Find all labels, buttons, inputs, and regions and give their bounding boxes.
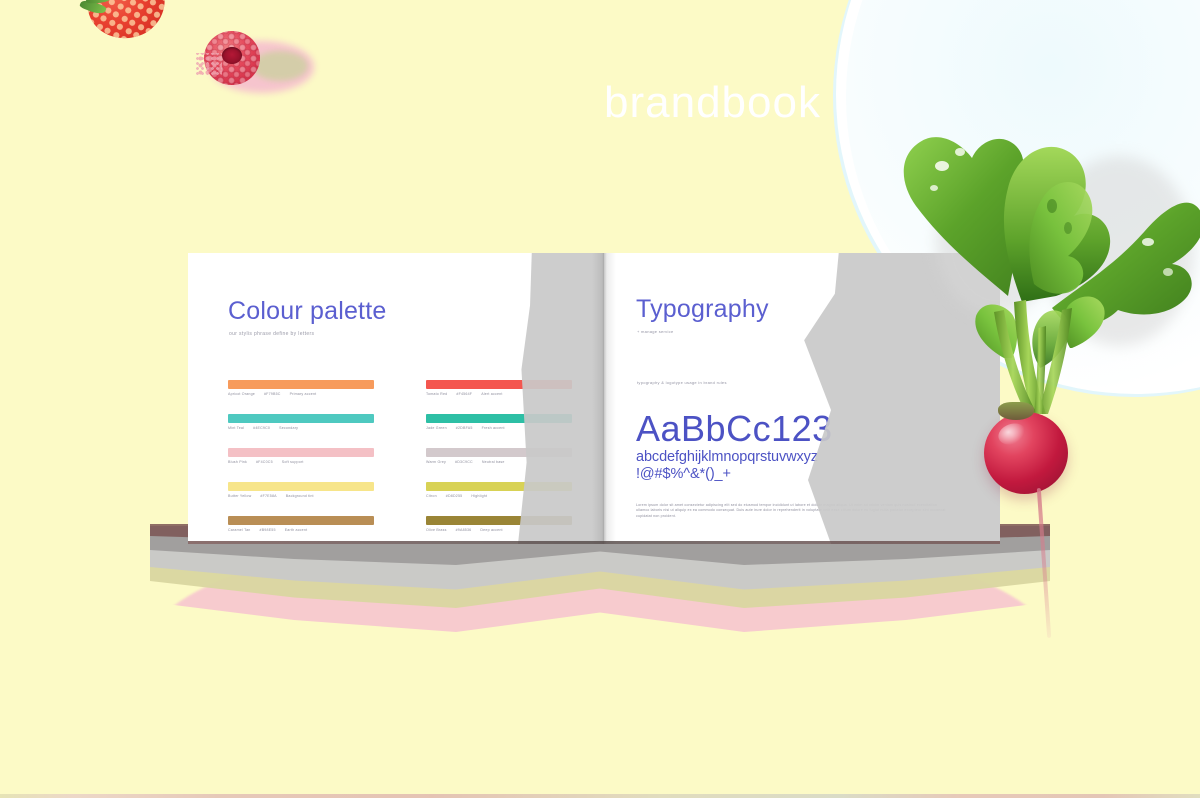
palette-swatch-hex: #F79B5C [264,392,281,397]
palette-swatch-meta: Blush Pink#F4C0C5Soft support [228,460,374,465]
palette-swatch-hex: #2DBFA5 [456,426,473,431]
palette-swatch-bar [426,448,572,457]
palette-swatch-row: Mint Teal#4EC9C0Secondary [228,414,374,431]
palette-swatch-hex: #F7E58A [260,494,276,499]
radish-vegetable [876,96,1200,636]
palette-swatch-meta: Mint Teal#4EC9C0Secondary [228,426,374,431]
palette-swatch-bar [228,414,374,423]
typography-heading: Typography [636,295,769,324]
palette-swatch-usage: Earth accent [285,528,308,533]
palette-swatch-usage: Fresh accent [482,426,505,431]
palette-swatch-usage: Background tint [286,494,314,499]
palette-swatch-name: Olive Brass [426,528,447,533]
typography-note-top: + manage service [637,329,673,334]
palette-swatch-hex: #D3C9CC [455,460,473,465]
palette-swatch-row: Olive Brass#9A8536Deep accent [426,516,572,533]
palette-swatch-hex: #B98E55 [260,528,276,533]
palette-swatch-hex: #F4C0C5 [256,460,273,465]
palette-swatch-bar [228,380,374,389]
palette-swatch-name: Citron [426,494,437,499]
palette-swatch-name: Apricot Orange [228,392,255,397]
palette-swatch-row: Apricot Orange#F79B5CPrimary accent [228,380,374,397]
palette-swatch-row: Butter Yellow#F7E58ABackground tint [228,482,374,499]
palette-swatch-row: Blush Pink#F4C0C5Soft support [228,448,374,465]
palette-swatch-meta: Butter Yellow#F7E58ABackground tint [228,494,374,499]
palette-swatch-meta: Olive Brass#9A8536Deep accent [426,528,572,533]
palette-column-right: Tomato Red#F4564FAlert accentJade Green#… [426,380,572,544]
palette-swatch-row: Citron#D8D255Highlight [426,482,572,499]
radish-root-bulb [984,412,1068,494]
palette-swatch-name: Mint Teal [228,426,244,431]
palette-swatch-meta: Citron#D8D255Highlight [426,494,572,499]
canvas-bottom-edge [0,794,1200,798]
palette-swatch-row: Warm Grey#D3C9CCNeutral base [426,448,572,465]
palette-swatch-usage: Neutral base [482,460,505,465]
palette-swatch-bar [228,482,374,491]
palette-swatch-usage: Deep accent [480,528,502,533]
colour-palette-heading: Colour palette [228,297,386,326]
palette-swatch-usage: Highlight [471,494,487,499]
type-specimen-lowercase: abcdefghijklmnopqrstuvwxyz [636,449,818,466]
palette-swatch-meta: Apricot Orange#F79B5CPrimary accent [228,392,374,397]
palette-swatch-name: Butter Yellow [228,494,251,499]
palette-swatch-name: Blush Pink [228,460,247,465]
palette-swatch-meta: Jade Green#2DBFA5Fresh accent [426,426,572,431]
page-title: brandbook [604,78,821,128]
palette-swatch-name: Tomato Red [426,392,447,397]
palette-swatch-usage: Alert accent [481,392,502,397]
type-specimen-uppercase: AaBbCc123 [636,408,833,450]
palette-swatch-hex: #F4564F [456,392,472,397]
raspberry-core-hollow [222,47,242,64]
colour-palette-subtitle: our stylis phrase define by letters [229,331,314,337]
radish-root-crown [998,402,1034,420]
palette-swatch-hex: #9A8536 [456,528,472,533]
radish-leaves [876,96,1200,636]
typography-note-mid: typography & logotype usage in brand rul… [637,380,727,385]
palette-swatch-bar [426,380,572,389]
palette-swatch-row: Tomato Red#F4564FAlert accent [426,380,572,397]
palette-swatch-bar [228,516,374,525]
palette-swatch-bar [426,414,572,423]
palette-swatch-bar [426,482,572,491]
palette-swatch-name: Jade Green [426,426,447,431]
palette-swatch-row: Jade Green#2DBFA5Fresh accent [426,414,572,431]
strawberry-fruit [78,0,174,40]
raspberry-crumbs [196,53,222,77]
palette-swatch-name: Warm Grey [426,460,446,465]
palette-swatch-usage: Soft support [282,460,304,465]
palette-swatch-bar [228,448,374,457]
palette-swatch-usage: Primary accent [290,392,317,397]
palette-swatch-hex: #D8D255 [446,494,463,499]
type-specimen-symbols: !@#$%^&*()_+ [636,466,818,483]
page-colour-palette: Colour palette our stylis phrase define … [188,253,604,544]
palette-swatch-meta: Tomato Red#F4564FAlert accent [426,392,572,397]
mockup-canvas: brandbook Colour palette our stylis phra… [0,0,1200,798]
raspberry-shadow-olive [252,51,308,81]
raspberry-fruit [196,29,316,101]
palette-swatch-meta: Warm Grey#D3C9CCNeutral base [426,460,572,465]
palette-swatch-hex: #4EC9C0 [253,426,270,431]
palette-column-left: Apricot Orange#F79B5CPrimary accentMint … [228,380,374,544]
palette-swatch-usage: Secondary [279,426,298,431]
palette-swatch-meta: Caramel Tan#B98E55Earth accent [228,528,374,533]
type-specimen-lowercase-and-symbols: abcdefghijklmnopqrstuvwxyz !@#$%^&*()_+ [636,449,818,483]
palette-swatch-bar [426,516,572,525]
palette-swatch-name: Caramel Tan [228,528,251,533]
palette-swatch-row: Caramel Tan#B98E55Earth accent [228,516,374,533]
